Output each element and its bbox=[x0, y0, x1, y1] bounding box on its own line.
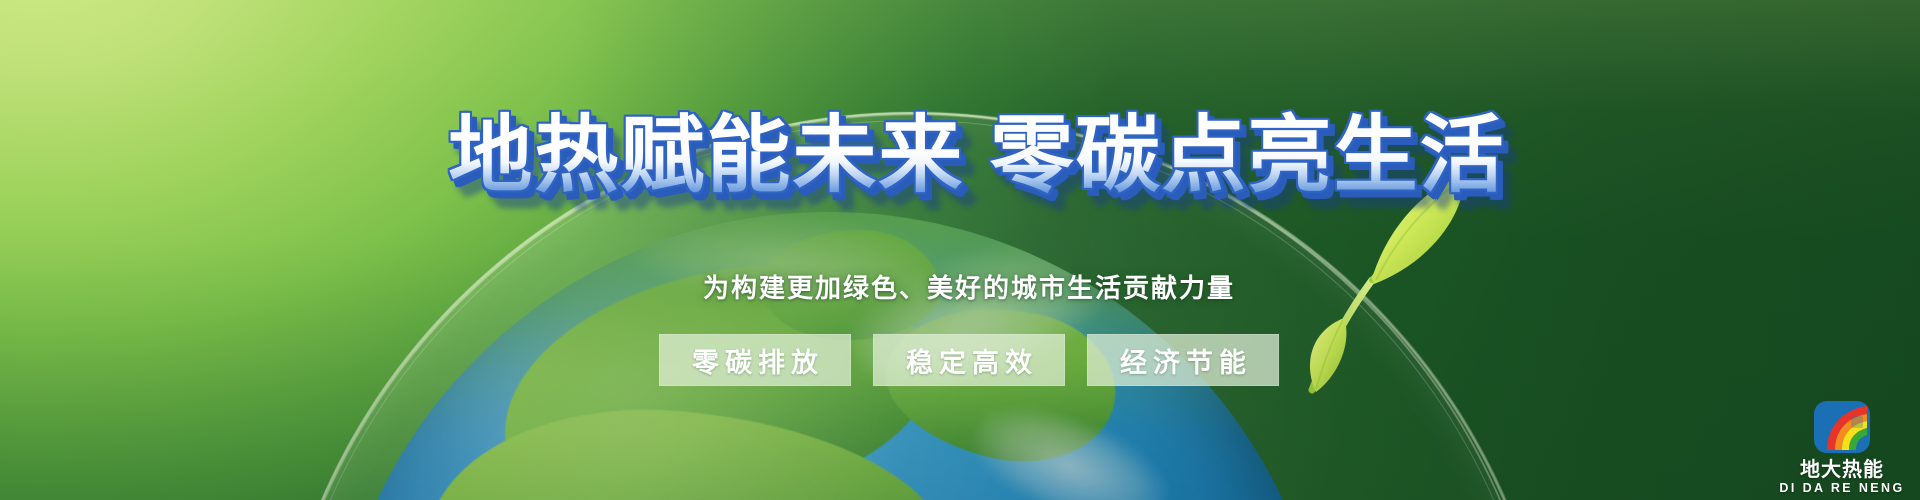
hero-banner: 地热赋能未来 零碳点亮生活 为构建更加绿色、美好的城市生活贡献力量 零碳排放 稳… bbox=[0, 0, 1920, 500]
feature-badge-list: 零碳排放 稳定高效 经济节能 bbox=[0, 334, 1920, 386]
rainbow-swoosh-icon bbox=[1811, 400, 1873, 458]
page-title: 地热赋能未来 零碳点亮生活 bbox=[0, 108, 1920, 202]
company-logo[interactable]: 地大热能 DI DA RE NENG bbox=[1786, 400, 1898, 496]
feature-badge-economic-saving[interactable]: 经济节能 bbox=[1087, 334, 1279, 386]
banner-subtitle: 为构建更加绿色、美好的城市生活贡献力量 bbox=[0, 268, 1920, 305]
logo-name-en: DI DA RE NENG bbox=[1779, 481, 1904, 496]
feature-badge-stable-efficient[interactable]: 稳定高效 bbox=[873, 334, 1065, 386]
feature-badge-zero-carbon[interactable]: 零碳排放 bbox=[659, 334, 851, 386]
banner-content: 地热赋能未来 零碳点亮生活 为构建更加绿色、美好的城市生活贡献力量 零碳排放 稳… bbox=[0, 0, 1920, 500]
logo-name-cn: 地大热能 bbox=[1800, 460, 1884, 481]
